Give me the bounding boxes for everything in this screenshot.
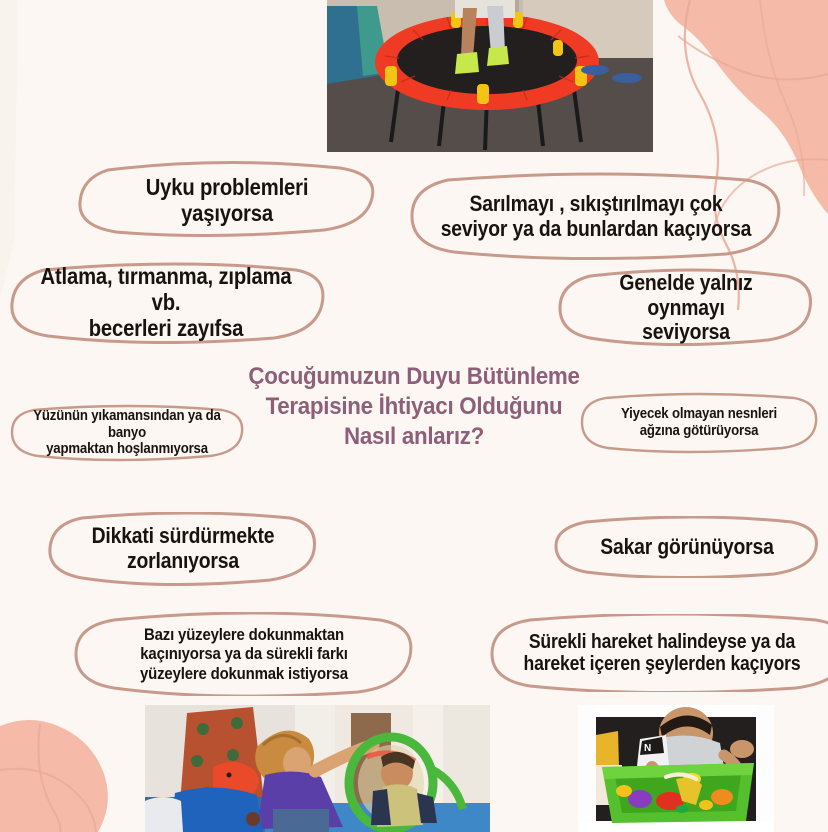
symptom-text: Yiyecek olmayan nesnleri ağzına götürüyo… xyxy=(601,406,796,440)
deco-blob-bottom-left xyxy=(0,720,108,832)
symptom-text: Sarılmayı , sıkıştırılmayı çok seviyor y… xyxy=(439,192,752,241)
symptom-text: Dikkati sürdürmekte zorlanıyorsa xyxy=(71,524,295,573)
symptom-text: Sürekli hareket halindeyse ya da hareket… xyxy=(519,631,804,676)
symptom-bubble-bathing: Yüzünün yıkamansından ya da banyo yapmak… xyxy=(4,404,250,462)
symptom-bubble-attention: Dikkati sürdürmekte zorlanıyorsa xyxy=(42,512,324,586)
photo-trampoline xyxy=(327,0,653,152)
symptom-bubble-mouthing-objects: Yiyecek olmayan nesnleri ağzına götürüyo… xyxy=(574,392,824,454)
symptom-text: Yüzünün yıkamansından ya da banyo yapmak… xyxy=(31,408,223,458)
svg-text:N: N xyxy=(644,743,651,754)
symptom-text: Uyku problemleri yaşıyorsa xyxy=(103,175,351,227)
title-line-2: Terapisine İhtiyacı Olduğunu xyxy=(237,392,590,422)
symptom-bubble-sleep: Uyku problemleri yaşıyorsa xyxy=(72,160,382,242)
deco-blob-top-right xyxy=(664,0,828,310)
symptom-bubble-clumsiness: Sakar görünüyorsa xyxy=(548,516,826,578)
symptom-text: Atlama, tırmanma, zıplama vb. becerleri … xyxy=(32,264,300,341)
symptom-bubble-hugging: Sarılmayı , sıkıştırılmayı çok seviyor y… xyxy=(404,172,788,262)
photo-sensory-bin: N xyxy=(578,705,774,832)
symptom-text: Genelde yalnız oynmayı seviyorsa xyxy=(580,271,791,345)
symptom-bubble-motor-skills: Atlama, tırmanma, zıplama vb. becerleri … xyxy=(0,262,332,344)
poster-title: Çocuğumuzun Duyu Bütünleme Terapisine İh… xyxy=(224,362,604,452)
symptom-text: Sakar görünüyorsa xyxy=(577,535,797,560)
photo-therapy-session xyxy=(145,705,490,832)
symptom-bubble-tactile: Bazı yüzeylere dokunmaktan kaçınıyorsa y… xyxy=(68,612,420,696)
title-line-1: Çocuğumuzun Duyu Bütünleme xyxy=(237,362,590,392)
symptom-text: Bazı yüzeylere dokunmaktan kaçınıyorsa y… xyxy=(101,625,386,682)
title-line-3: Nasıl anlarız? xyxy=(237,422,590,452)
infographic-poster: N Uyku problemleri yaşıyorsa xyxy=(0,0,828,832)
symptom-bubble-constant-movement: Sürekli hareket halindeyse ya da hareket… xyxy=(486,614,828,692)
symptom-bubble-solitary-play: Genelde yalnız oynmayı seviyorsa xyxy=(552,268,820,348)
